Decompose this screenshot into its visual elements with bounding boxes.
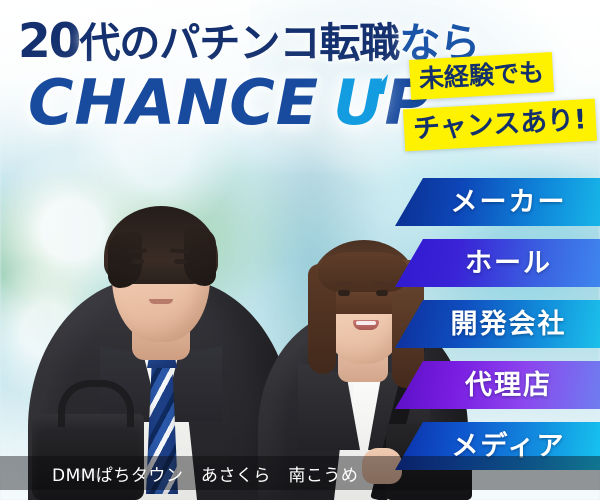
category-label-agency: 代理店 bbox=[395, 372, 600, 399]
logo-chance-word: CHANCE bbox=[28, 66, 319, 139]
category-button-development-company[interactable]: 開発会社 bbox=[395, 300, 600, 348]
category-button-hall[interactable]: ホール bbox=[395, 239, 600, 287]
man-eye-left bbox=[131, 259, 144, 264]
headline-rest: 代のパチンコ転職 bbox=[79, 19, 399, 67]
badge-line-1: 未経験でも bbox=[409, 52, 554, 100]
businessman-figure bbox=[28, 170, 293, 500]
credit-text: DMMぱちタウン あさくら 南こうめ bbox=[0, 461, 358, 486]
woman-eye-left bbox=[338, 290, 350, 296]
man-eye-right bbox=[174, 259, 187, 264]
category-button-list: メーカー ホール 開発会社 代理店 メディア bbox=[395, 178, 600, 470]
man-hair bbox=[104, 206, 218, 284]
category-label-hall: ホール bbox=[395, 250, 600, 277]
woman-mouth bbox=[353, 320, 379, 330]
category-label-maker: メーカー bbox=[395, 189, 600, 216]
headline-number: 20 bbox=[18, 14, 79, 69]
chance-up-logo: CHANCEUP bbox=[28, 72, 431, 134]
logo-up-u-letter: U bbox=[333, 72, 384, 134]
woman-eye-right bbox=[376, 290, 388, 296]
category-button-maker[interactable]: メーカー bbox=[395, 178, 600, 226]
man-mouth bbox=[149, 299, 173, 304]
advertisement-banner[interactable]: 20代のパチンコ転職なら CHANCEUP 未経験でも チャンスあり! メーカー… bbox=[0, 0, 600, 500]
credit-bar: DMMぱちタウン あさくら 南こうめ bbox=[0, 456, 600, 490]
badge-line-2: チャンスあり! bbox=[403, 99, 597, 152]
category-button-agency[interactable]: 代理店 bbox=[395, 361, 600, 409]
no-experience-badge: 未経験でも チャンスあり! bbox=[404, 56, 594, 164]
category-label-development-company: 開発会社 bbox=[395, 311, 600, 338]
